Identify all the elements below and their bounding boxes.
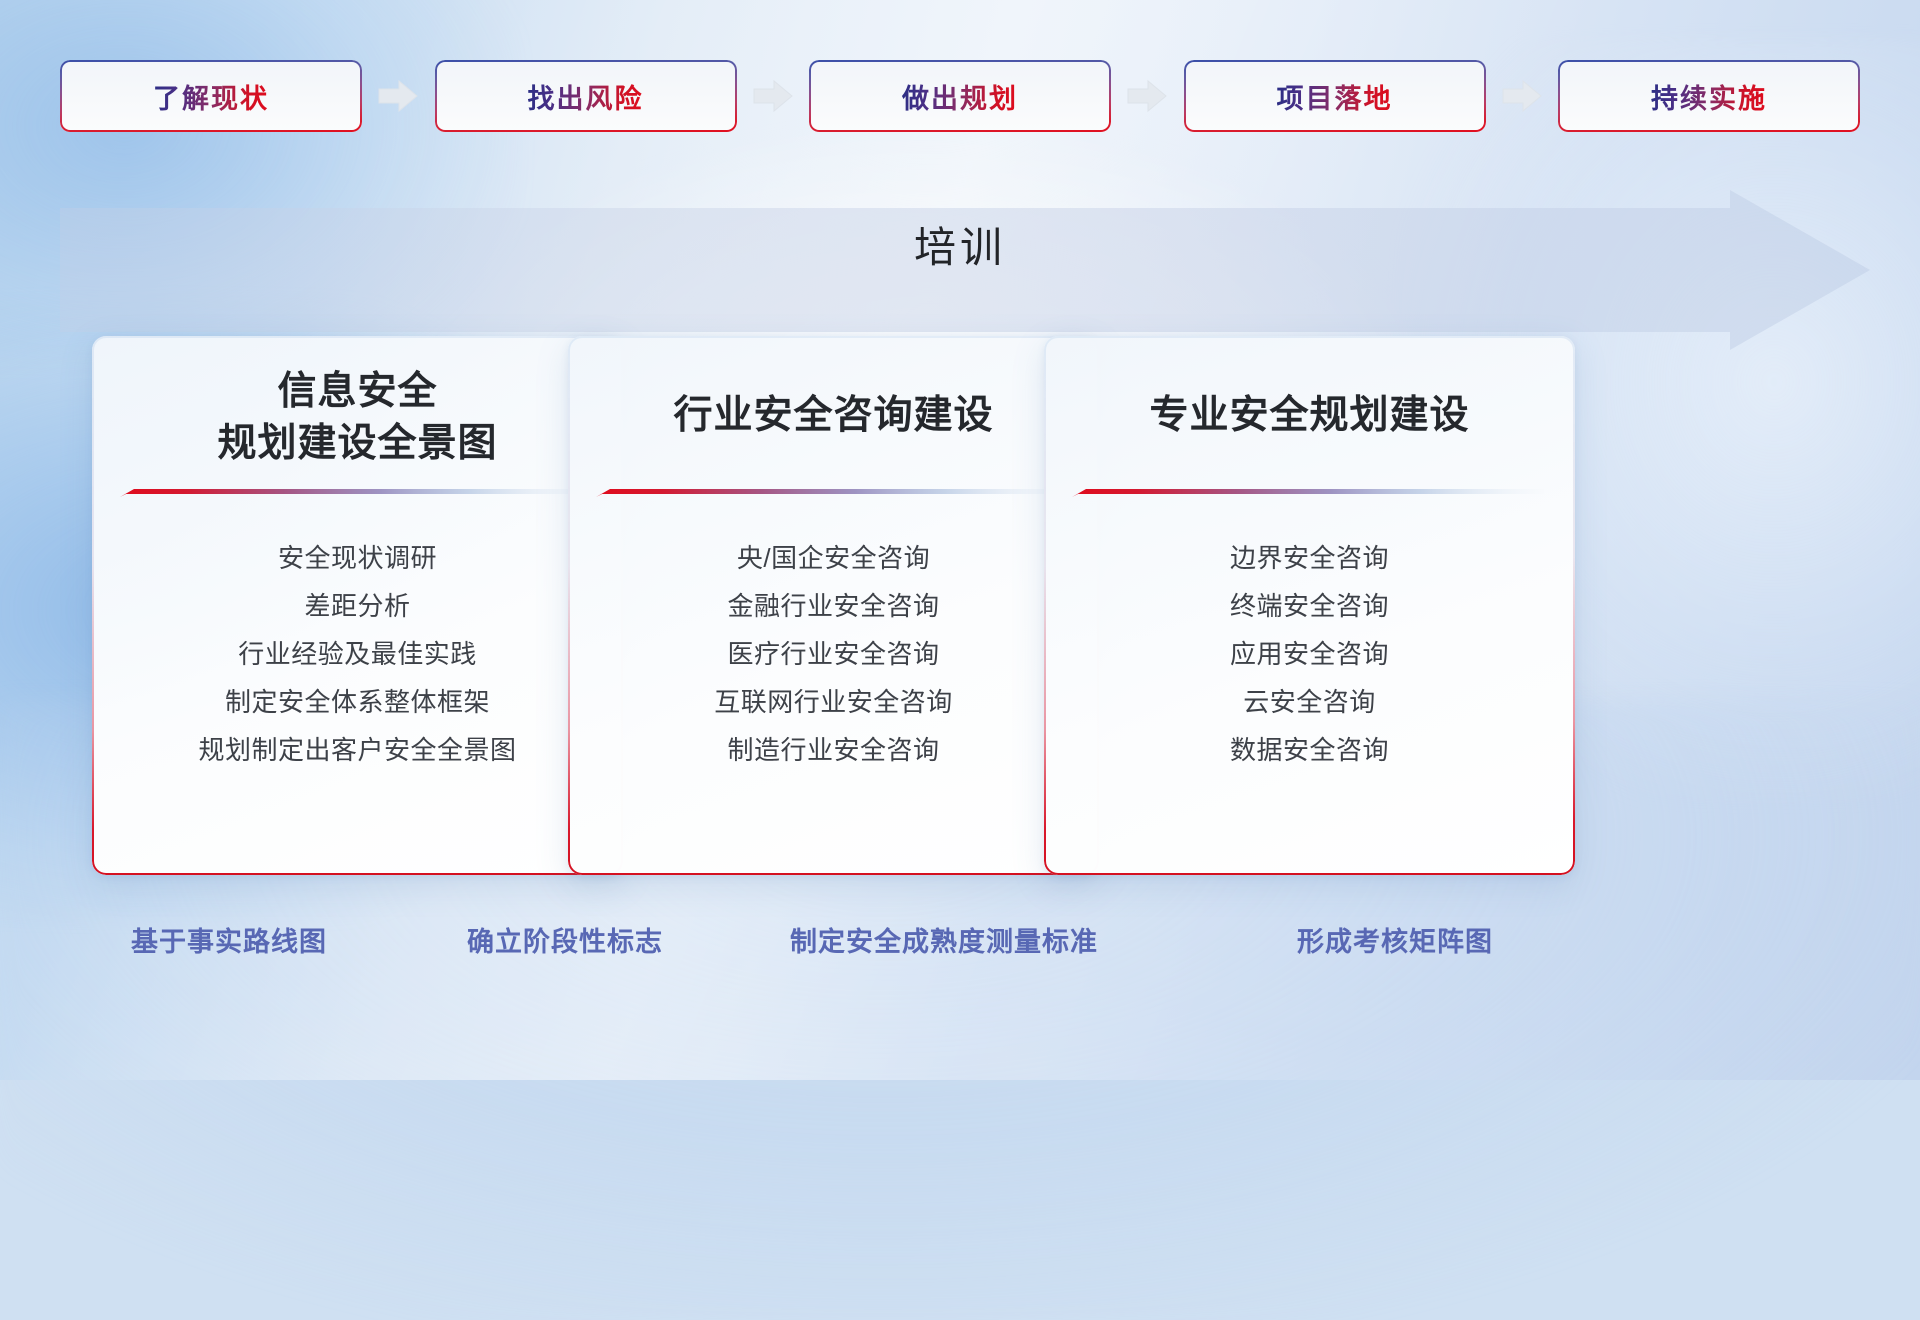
list-item: 差距分析 (92, 582, 623, 630)
band-title: 培训 (0, 214, 1920, 275)
process-step-strip: 了解现状 找出风险 做出规划 项目落地 持续实施 (60, 58, 1860, 134)
step-label-1: 了解现状 (153, 77, 269, 116)
list-item: 边界安全咨询 (1044, 534, 1575, 582)
list-item: 央/国企安全咨询 (568, 534, 1099, 582)
list-item: 制定安全体系整体框架 (92, 678, 623, 726)
card-item-list: 安全现状调研 差距分析 行业经验及最佳实践 制定安全体系整体框架 规划制定出客户… (92, 534, 623, 774)
step-box-3[interactable]: 做出规划 (809, 60, 1111, 132)
chevron-right-arrow-icon (377, 78, 419, 114)
list-item: 医疗行业安全咨询 (568, 630, 1099, 678)
card-divider-gradient-bar (596, 488, 1068, 497)
chevron-right-arrow-icon (752, 78, 794, 114)
footer-outcome-labels: 基于事实路线图 确立阶段性标志 制定安全成熟度测量标准 形成考核矩阵图 (0, 920, 1920, 964)
footer-label-maturity: 制定安全成熟度测量标准 (790, 920, 1098, 959)
chevron-right-arrow-icon (1501, 78, 1543, 114)
step-box-2[interactable]: 找出风险 (435, 60, 737, 132)
list-item: 云安全咨询 (1044, 678, 1575, 726)
card-title: 信息安全 规划建设全景图 (92, 366, 623, 471)
list-item: 规划制定出客户安全全景图 (92, 726, 623, 774)
card-item-list: 央/国企安全咨询 金融行业安全咨询 医疗行业安全咨询 互联网行业安全咨询 制造行… (568, 534, 1099, 774)
card-title: 行业安全咨询建设 (568, 390, 1099, 442)
footer-label-roadmap: 基于事实路线图 (131, 920, 327, 959)
list-item: 行业经验及最佳实践 (92, 630, 623, 678)
step-label-3: 做出规划 (902, 77, 1018, 116)
solution-cards: 信息安全 规划建设全景图 安全现状调研 (0, 336, 1920, 881)
step-label-5: 持续实施 (1651, 77, 1767, 116)
chevron-right-arrow-icon (1126, 78, 1168, 114)
card-divider-gradient-bar (120, 488, 592, 497)
card-professional-security-planning[interactable]: 专业安全规划建设 边界安全咨询 终端安 (1044, 336, 1575, 875)
footer-label-milestone: 确立阶段性标志 (467, 920, 663, 959)
list-item: 制造行业安全咨询 (568, 726, 1099, 774)
card-information-security-blueprint[interactable]: 信息安全 规划建设全景图 安全现状调研 (92, 336, 623, 875)
list-item: 金融行业安全咨询 (568, 582, 1099, 630)
footer-label-matrix: 形成考核矩阵图 (1297, 920, 1493, 959)
card-divider-gradient-bar (1072, 488, 1544, 497)
card-item-list: 边界安全咨询 终端安全咨询 应用安全咨询 云安全咨询 数据安全咨询 (1044, 534, 1575, 774)
step-box-5[interactable]: 持续实施 (1558, 60, 1860, 132)
list-item: 互联网行业安全咨询 (568, 678, 1099, 726)
list-item: 终端安全咨询 (1044, 582, 1575, 630)
step-label-2: 找出风险 (528, 77, 644, 116)
card-title: 专业安全规划建设 (1044, 390, 1575, 442)
card-industry-security-consulting[interactable]: 行业安全咨询建设 央/国企安全咨询 金 (568, 336, 1099, 875)
step-box-1[interactable]: 了解现状 (60, 60, 362, 132)
list-item: 应用安全咨询 (1044, 630, 1575, 678)
list-item: 安全现状调研 (92, 534, 623, 582)
list-item: 数据安全咨询 (1044, 726, 1575, 774)
step-box-4[interactable]: 项目落地 (1184, 60, 1486, 132)
step-label-4: 项目落地 (1277, 77, 1393, 116)
